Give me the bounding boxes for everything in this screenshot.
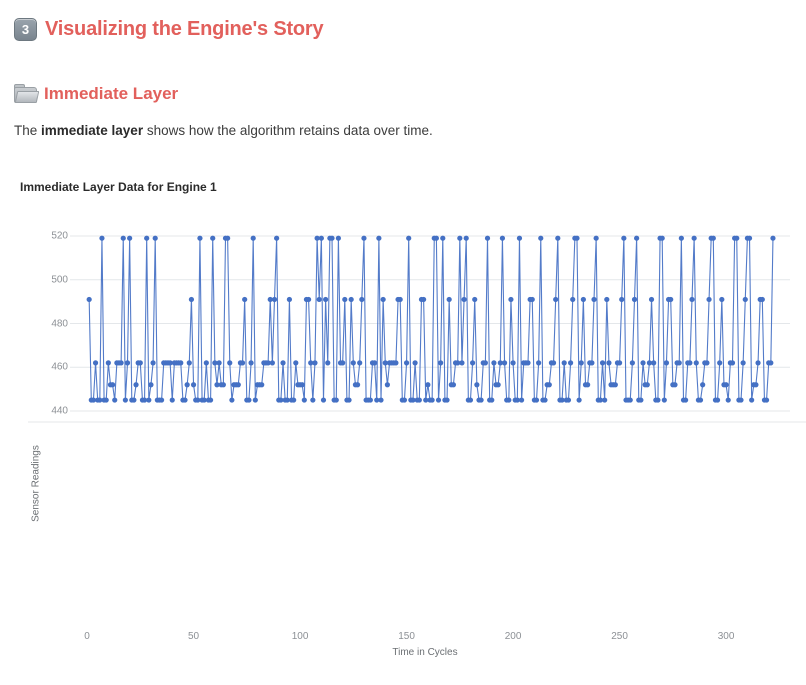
x-tick-label: 300 [718,631,735,642]
x-tick-label: 150 [398,631,415,642]
y-tick-label: 480 [28,318,68,329]
paragraph-suffix: shows how the algorithm retains data ove… [143,123,433,138]
x-axis-ticks: 050100150200250300 [0,631,806,647]
x-axis-label: Time in Cycles [22,647,806,658]
x-tick-label: 0 [84,631,90,642]
body-paragraph: The immediate layer shows how the algori… [14,123,433,138]
y-axis-ticks: 440460480500520 [28,210,68,685]
paragraph-prefix: The [14,123,41,138]
x-tick-label: 250 [611,631,628,642]
section-heading: 3 Visualizing the Engine's Story [14,18,323,41]
section-title: Visualizing the Engine's Story [45,18,323,41]
paragraph-emphasis: immediate layer [41,123,143,138]
line-chart-svg [0,228,806,448]
open-folder-icon [14,86,36,102]
subsection-heading: Immediate Layer [14,84,178,104]
subsection-title: Immediate Layer [44,84,178,104]
y-tick-label: 440 [28,406,68,417]
page-root: 3 Visualizing the Engine's Story Immedia… [0,0,806,475]
keycap-three-icon: 3 [14,18,37,41]
y-tick-label: 460 [28,362,68,373]
x-tick-label: 200 [505,631,522,642]
chart-container: Sensor Readings 440460480500520 05010015… [0,210,806,475]
y-tick-label: 500 [28,274,68,285]
x-tick-label: 100 [292,631,309,642]
x-tick-label: 50 [188,631,199,642]
chart-title: Immediate Layer Data for Engine 1 [20,180,217,194]
y-tick-label: 520 [28,231,68,242]
